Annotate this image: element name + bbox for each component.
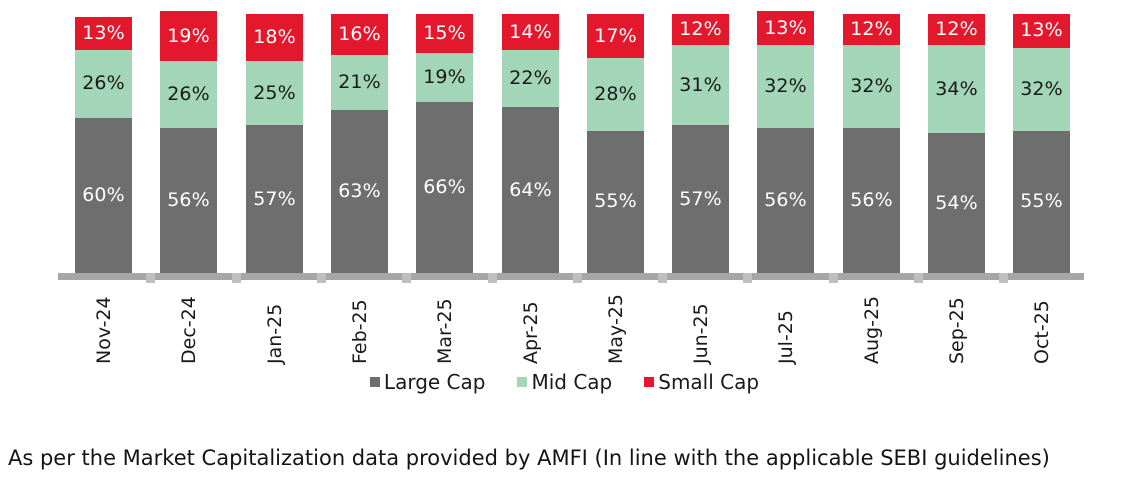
bar-segment: 28% [587, 58, 644, 131]
bar-segment-value-label: 55% [594, 192, 637, 211]
x-axis-tick [402, 273, 411, 283]
bar-segment: 31% [672, 45, 729, 125]
x-axis-label: Jan-25 [267, 286, 283, 364]
bar-segment: 66% [416, 102, 473, 273]
legend-item[interactable]: Mid Cap [517, 372, 612, 392]
bar-segment-value-label: 22% [509, 69, 552, 88]
bar-segment: 21% [331, 55, 388, 109]
footnote-text: As per the Market Capitalization data pr… [8, 447, 1128, 470]
bar-segment: 57% [246, 125, 303, 273]
legend-item[interactable]: Small Cap [644, 372, 759, 392]
x-axis-tick [999, 273, 1008, 283]
x-axis-tick [317, 273, 326, 283]
bar-segment-value-label: 12% [679, 20, 722, 39]
bar-segment-value-label: 13% [82, 24, 125, 43]
x-axis-tick [658, 273, 667, 283]
bar-segment: 26% [75, 50, 132, 117]
x-axis-label: May-25 [608, 286, 624, 364]
bar-segment-value-label: 34% [935, 80, 978, 99]
x-axis-tick [573, 273, 582, 283]
legend-swatch-icon [644, 377, 654, 387]
bar-segment-value-label: 60% [82, 186, 125, 205]
x-axis-tick [146, 273, 155, 283]
x-axis-label: Jul-25 [778, 286, 794, 364]
bar-group: 13%26%60% [75, 17, 132, 273]
bar-group: 15%19%66% [416, 14, 473, 273]
bar-segment-value-label: 57% [679, 190, 722, 209]
bar-segment-value-label: 26% [82, 74, 125, 93]
bar-segment: 12% [672, 14, 729, 45]
bar-segment-value-label: 55% [1020, 192, 1063, 211]
bar-segment-value-label: 14% [509, 23, 552, 42]
bar-segment-value-label: 56% [764, 191, 807, 210]
bar-segment-value-label: 13% [764, 19, 807, 38]
legend-swatch-icon [517, 377, 527, 387]
bar-segment-value-label: 32% [764, 77, 807, 96]
bar-group: 14%22%64% [502, 14, 559, 273]
plot-area: 13%26%60%19%26%56%18%25%57%16%21%63%15%1… [0, 0, 1129, 276]
bar-segment-value-label: 26% [167, 85, 210, 104]
bar-segment-value-label: 31% [679, 76, 722, 95]
x-axis-label: Mar-25 [437, 286, 453, 364]
bar-group: 18%25%57% [246, 14, 303, 273]
legend-item-label: Small Cap [658, 372, 759, 392]
bar-segment: 13% [757, 11, 814, 45]
bar-segment-value-label: 57% [253, 190, 296, 209]
x-axis-label: Jun-25 [693, 286, 709, 364]
x-axis-tick [743, 273, 752, 283]
bar-segment: 12% [928, 14, 985, 45]
bar-segment: 56% [843, 128, 900, 273]
bar-segment: 18% [246, 14, 303, 61]
bar-segment: 17% [587, 14, 644, 58]
bar-segment: 12% [843, 14, 900, 45]
x-axis-label: Sep-25 [949, 286, 965, 364]
bar-segment: 14% [502, 14, 559, 50]
bar-group: 16%21%63% [331, 14, 388, 273]
bar-segment: 13% [1013, 14, 1070, 48]
bar-segment: 55% [587, 131, 644, 273]
bar-segment-value-label: 16% [338, 25, 381, 44]
bar-group: 19%26%56% [160, 11, 217, 273]
bar-segment-value-label: 64% [509, 181, 552, 200]
bar-segment-value-label: 17% [594, 27, 637, 46]
bar-segment: 34% [928, 45, 985, 133]
bar-segment-value-label: 32% [850, 77, 893, 96]
bar-segment-value-label: 19% [423, 68, 466, 87]
bar-segment: 60% [75, 118, 132, 273]
bar-segment-value-label: 28% [594, 85, 637, 104]
stacked-bar-chart: 13%26%60%19%26%56%18%25%57%16%21%63%15%1… [0, 0, 1129, 487]
x-axis-label: Oct-25 [1034, 286, 1050, 364]
x-axis-label: Apr-25 [523, 286, 539, 364]
bar-segment-value-label: 66% [423, 178, 466, 197]
bar-group: 12%32%56% [843, 14, 900, 273]
bar-segment-value-label: 13% [1020, 21, 1063, 40]
bar-segment-value-label: 15% [423, 24, 466, 43]
bar-segment: 13% [75, 17, 132, 51]
x-axis-line [58, 273, 1084, 280]
bar-segment: 56% [160, 128, 217, 273]
bar-segment-value-label: 18% [253, 28, 296, 47]
bar-segment-value-label: 12% [935, 20, 978, 39]
bar-segment-value-label: 25% [253, 84, 296, 103]
bar-segment: 64% [502, 107, 559, 273]
x-axis-label: Dec-24 [181, 286, 197, 364]
bar-segment: 56% [757, 128, 814, 273]
legend-item-label: Mid Cap [531, 372, 612, 392]
bar-segment-value-label: 63% [338, 182, 381, 201]
bar-segment: 55% [1013, 131, 1070, 273]
bar-segment-value-label: 56% [850, 191, 893, 210]
x-axis-label: Nov-24 [96, 286, 112, 364]
bar-segment-value-label: 21% [338, 73, 381, 92]
bar-group: 17%28%55% [587, 14, 644, 273]
legend-item[interactable]: Large Cap [370, 372, 486, 392]
bar-group: 13%32%56% [757, 11, 814, 273]
bar-segment: 19% [416, 53, 473, 102]
x-axis-label: Aug-25 [864, 286, 880, 364]
bar-segment: 32% [843, 45, 900, 128]
bar-segment-value-label: 12% [850, 20, 893, 39]
legend-item-label: Large Cap [384, 372, 486, 392]
bar-segment: 54% [928, 133, 985, 273]
bar-group: 12%34%54% [928, 14, 985, 273]
legend-swatch-icon [370, 377, 380, 387]
x-axis-tick [488, 273, 497, 283]
bar-segment: 16% [331, 14, 388, 55]
bar-segment-value-label: 19% [167, 27, 210, 46]
bar-segment: 25% [246, 61, 303, 126]
bar-segment: 32% [757, 45, 814, 128]
bar-segment: 22% [502, 50, 559, 107]
bar-segment-value-label: 56% [167, 191, 210, 210]
x-axis-tick [914, 273, 923, 283]
bar-segment-value-label: 54% [935, 194, 978, 213]
bar-segment-value-label: 32% [1020, 80, 1063, 99]
bar-segment: 57% [672, 125, 729, 273]
bar-segment: 15% [416, 14, 473, 53]
bar-segment: 32% [1013, 48, 1070, 131]
bar-segment: 26% [160, 61, 217, 128]
bar-segment: 19% [160, 11, 217, 60]
bar-group: 13%32%55% [1013, 14, 1070, 273]
chart-legend: Large CapMid CapSmall Cap [0, 372, 1129, 392]
bar-group: 12%31%57% [672, 14, 729, 273]
bar-segment: 63% [331, 110, 388, 273]
x-axis-label: Feb-25 [352, 286, 368, 364]
x-axis-tick [829, 273, 838, 283]
x-axis-tick [232, 273, 241, 283]
